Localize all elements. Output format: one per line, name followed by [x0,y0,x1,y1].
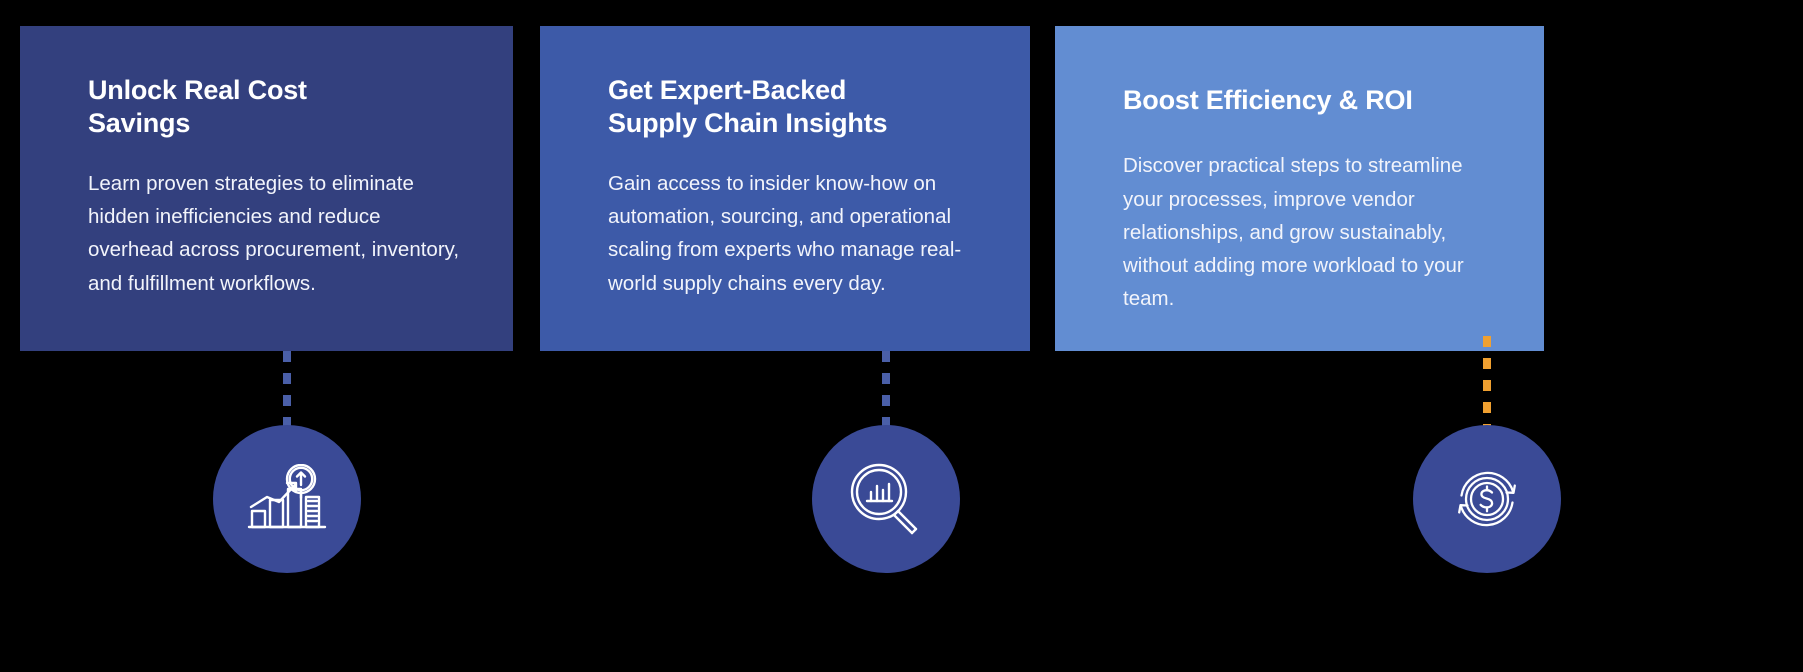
dollar-coin-refresh-cycle-icon [1448,460,1526,538]
dash-segments [283,351,291,435]
infographic-stage: Unlock Real Cost Savings Learn proven st… [0,0,1803,672]
feature-card-boost-efficiency-and-roi[interactable]: Boost Efficiency & ROI Discover practica… [1055,26,1544,351]
card-body-text: Gain access to insider know-how on autom… [608,141,986,300]
icon-badge-2[interactable] [812,425,960,573]
card-title: Boost Efficiency & ROI [1123,84,1500,117]
bar-chart-growth-magnifier-icon [246,464,328,534]
dash-segments [1483,336,1491,435]
card-body-text: Learn proven strategies to eliminate hid… [88,141,469,300]
feature-card-get-expert-backed-supply-chain-insights[interactable]: Get Expert-Backed Supply Chain Insights … [540,26,1030,351]
dashed-connector-line-3 [1483,336,1491,435]
feature-card-unlock-real-cost-savings[interactable]: Unlock Real Cost Savings Learn proven st… [20,26,513,351]
icon-badge-1[interactable] [213,425,361,573]
dash-segments [882,351,890,435]
dashed-connector-line-1 [283,351,291,435]
card-body-text: Discover practical steps to streamline y… [1123,117,1500,315]
icon-badge-3[interactable] [1413,425,1561,573]
card-title: Get Expert-Backed Supply Chain Insights [608,74,986,141]
magnifier-bar-chart-icon [848,461,924,537]
dashed-connector-line-2 [882,351,890,435]
card-title: Unlock Real Cost Savings [88,74,469,141]
